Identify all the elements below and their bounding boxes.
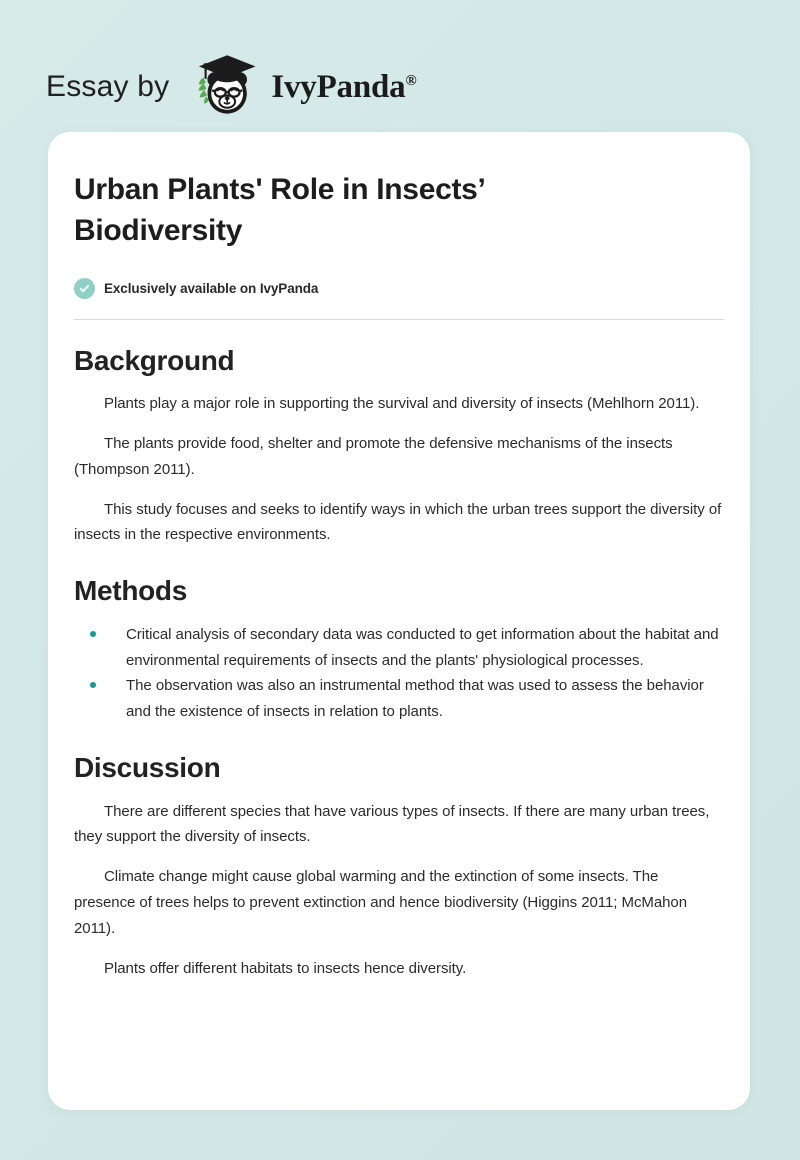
page-title: Urban Plants' Role in Insects’ Biodivers… [74,170,594,252]
methods-bullet-list: Critical analysis of secondary data was … [74,622,722,725]
ivy-panda-graduate-logo-icon [185,51,261,119]
essay-by-label: Essay by [46,72,169,102]
paragraph: There are different species that have va… [74,799,722,851]
bullet-dot-icon [90,631,96,637]
section-heading-discussion: Discussion [74,751,724,785]
list-item: Critical analysis of secondary data was … [74,622,722,674]
brand-name-label: IvyPanda® [271,71,416,104]
list-item-text: Critical analysis of secondary data was … [126,626,719,669]
section-heading-methods: Methods [74,574,724,608]
essay-content: Urban Plants' Role in Insects’ Biodivers… [74,170,724,981]
registered-mark: ® [405,73,416,89]
bullet-dot-icon [90,682,96,688]
paragraph: The plants provide food, shelter and pro… [74,431,722,483]
paragraph: Plants offer different habitats to insec… [74,956,722,982]
list-item: The observation was also an instrumental… [74,673,722,725]
ivypanda-logo[interactable]: IvyPanda® [185,55,416,119]
paragraph: Plants play a major role in supporting t… [74,391,722,417]
essay-card: Urban Plants' Role in Insects’ Biodivers… [48,132,750,1110]
brand-header: Essay by [0,0,800,132]
list-item-text: The observation was also an instrumental… [126,677,704,720]
paragraph: This study focuses and seeks to identify… [74,497,722,549]
exclusive-availability-label: Exclusively available on IvyPanda [104,281,318,296]
brand-name-text: IvyPanda [271,69,405,105]
title-divider [74,319,724,320]
check-circle-icon [74,278,95,299]
exclusive-availability-badge: Exclusively available on IvyPanda [74,278,724,299]
paragraph: Climate change might cause global warmin… [74,864,722,941]
section-heading-background: Background [74,344,724,378]
